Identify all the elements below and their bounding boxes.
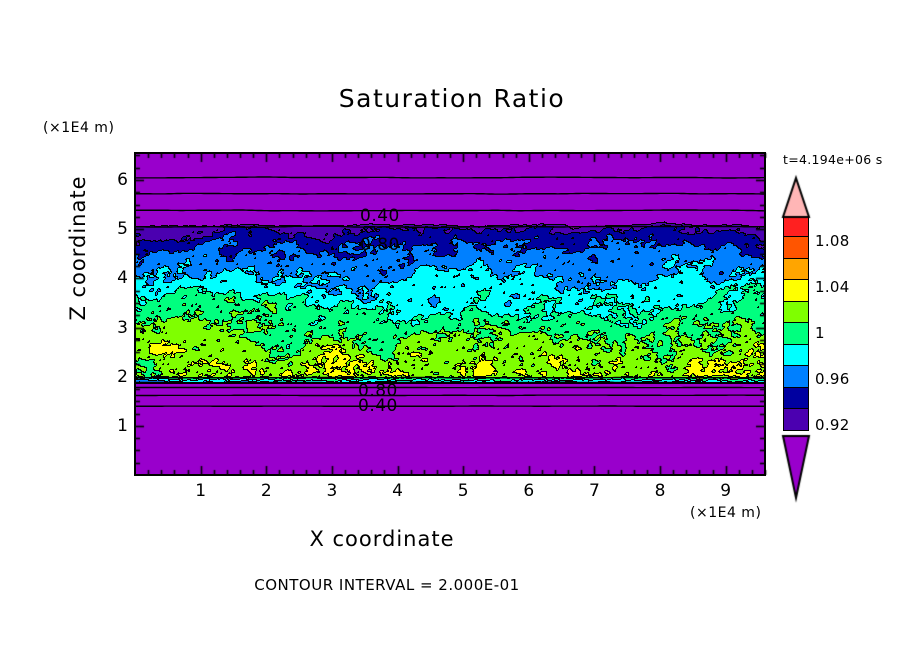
colorbar-tick-label: 1.04	[815, 278, 850, 296]
x-tick-label: 7	[589, 481, 600, 501]
x-tick-label: 6	[523, 481, 534, 501]
x-tick-label: 3	[326, 481, 337, 501]
contour-field-canvas	[135, 153, 765, 475]
x-tick-label: 4	[392, 481, 403, 501]
x-tick-label: 9	[720, 481, 731, 501]
y-tick-label: 2	[88, 367, 128, 387]
x-tick-label: 2	[261, 481, 272, 501]
contour-label: 0.40	[358, 396, 398, 416]
x-axis-title: X coordinate	[0, 527, 764, 551]
contour-plot-area[interactable]	[135, 153, 765, 475]
colorbar-tick-label: 0.92	[815, 416, 850, 434]
time-annotation: t=4.194e+06 s	[783, 152, 883, 167]
contour-label: 0.80	[360, 235, 400, 255]
y-axis-tick-labels: 123456	[88, 153, 128, 475]
x-tick-label: 1	[195, 481, 206, 501]
y-axis-title: Z coordinate	[66, 148, 90, 348]
colorbar-tick-label: 0.96	[815, 370, 850, 388]
y-tick-label: 5	[88, 219, 128, 239]
x-tick-label: 5	[458, 481, 469, 501]
page-title: Saturation Ratio	[0, 84, 904, 113]
y-tick-label: 6	[88, 170, 128, 190]
y-tick-label: 4	[88, 268, 128, 288]
x-tick-label: 8	[655, 481, 666, 501]
y-tick-label: 1	[88, 416, 128, 436]
y-tick-label: 3	[88, 318, 128, 338]
x-axis-tick-labels: 123456789	[135, 481, 765, 505]
contour-interval-caption: CONTOUR INTERVAL = 2.000E-01	[0, 576, 774, 594]
colorbar-tick-label: 1	[815, 324, 825, 342]
y-axis-unit-label: (×1E4 m)	[43, 120, 114, 136]
colorbar-tick-labels: 1.081.0410.960.92	[783, 216, 903, 492]
contour-label: 0.40	[360, 206, 400, 226]
colorbar-tick-label: 1.08	[815, 232, 850, 250]
x-axis-unit-label: (×1E4 m)	[690, 505, 761, 521]
